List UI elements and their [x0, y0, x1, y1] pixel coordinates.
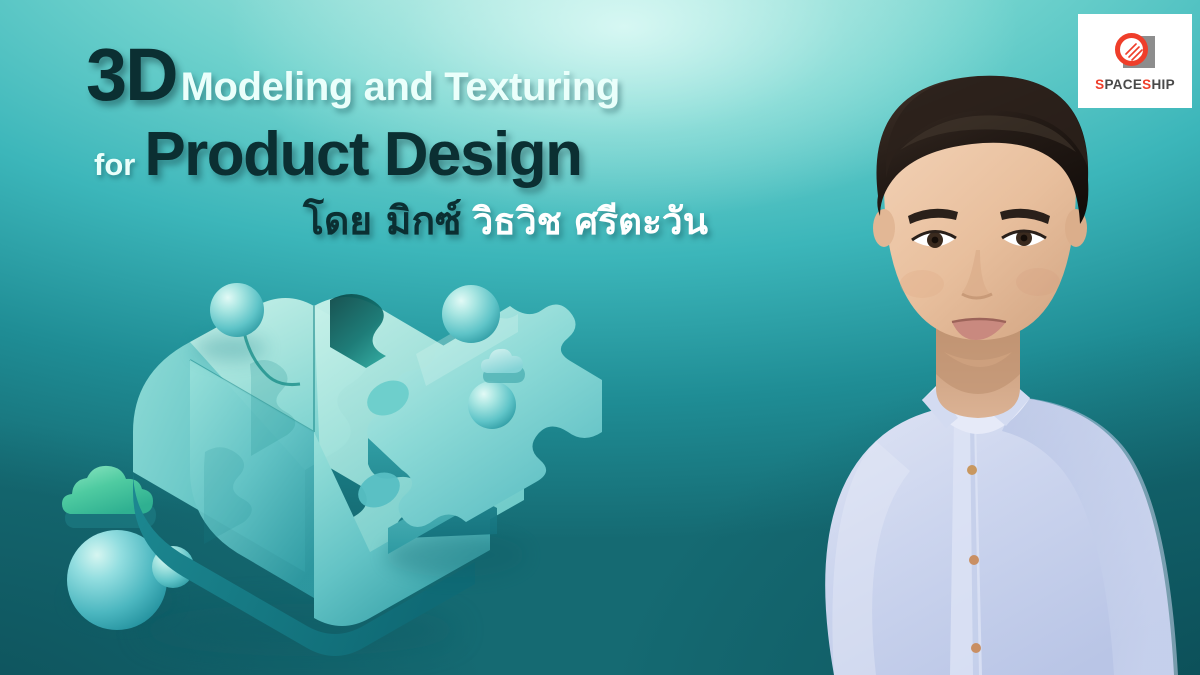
logo-wordmark: SPACESHIP: [1095, 78, 1175, 92]
title-line-3-instructor: โดย มิกซ์ วิธวิช ศรีตะวัน: [86, 202, 726, 241]
sphere-upper-right: [442, 285, 500, 343]
instructor-prefix: โดย มิกซ์: [303, 202, 462, 241]
sphere-mid-right: [468, 381, 516, 429]
title-block: 3D Modeling and Texturing for Product De…: [86, 38, 726, 241]
cover-banner: 3D Modeling and Texturing for Product De…: [0, 0, 1200, 675]
logo-hatch-lines: [1125, 43, 1145, 63]
logo-word-part-3: HIP: [1151, 77, 1174, 92]
title-main: Product Design: [144, 124, 581, 186]
logo-word-part-1: PACE: [1104, 77, 1142, 92]
portrait-head: [873, 76, 1088, 367]
title-subject: Modeling and Texturing: [181, 67, 620, 107]
title-line-1: 3D Modeling and Texturing: [86, 38, 726, 112]
title-accent-3d: 3D: [86, 38, 177, 112]
instructor-name: วิธวิช ศรีตะวัน: [473, 203, 708, 240]
brand-logo[interactable]: SPACESHIP: [1078, 14, 1192, 108]
title-preposition: for: [94, 149, 135, 180]
title-line-2: for Product Design: [94, 124, 726, 186]
spaceship-ring-icon: [1112, 30, 1158, 74]
portrait-shirt: [825, 384, 1178, 675]
